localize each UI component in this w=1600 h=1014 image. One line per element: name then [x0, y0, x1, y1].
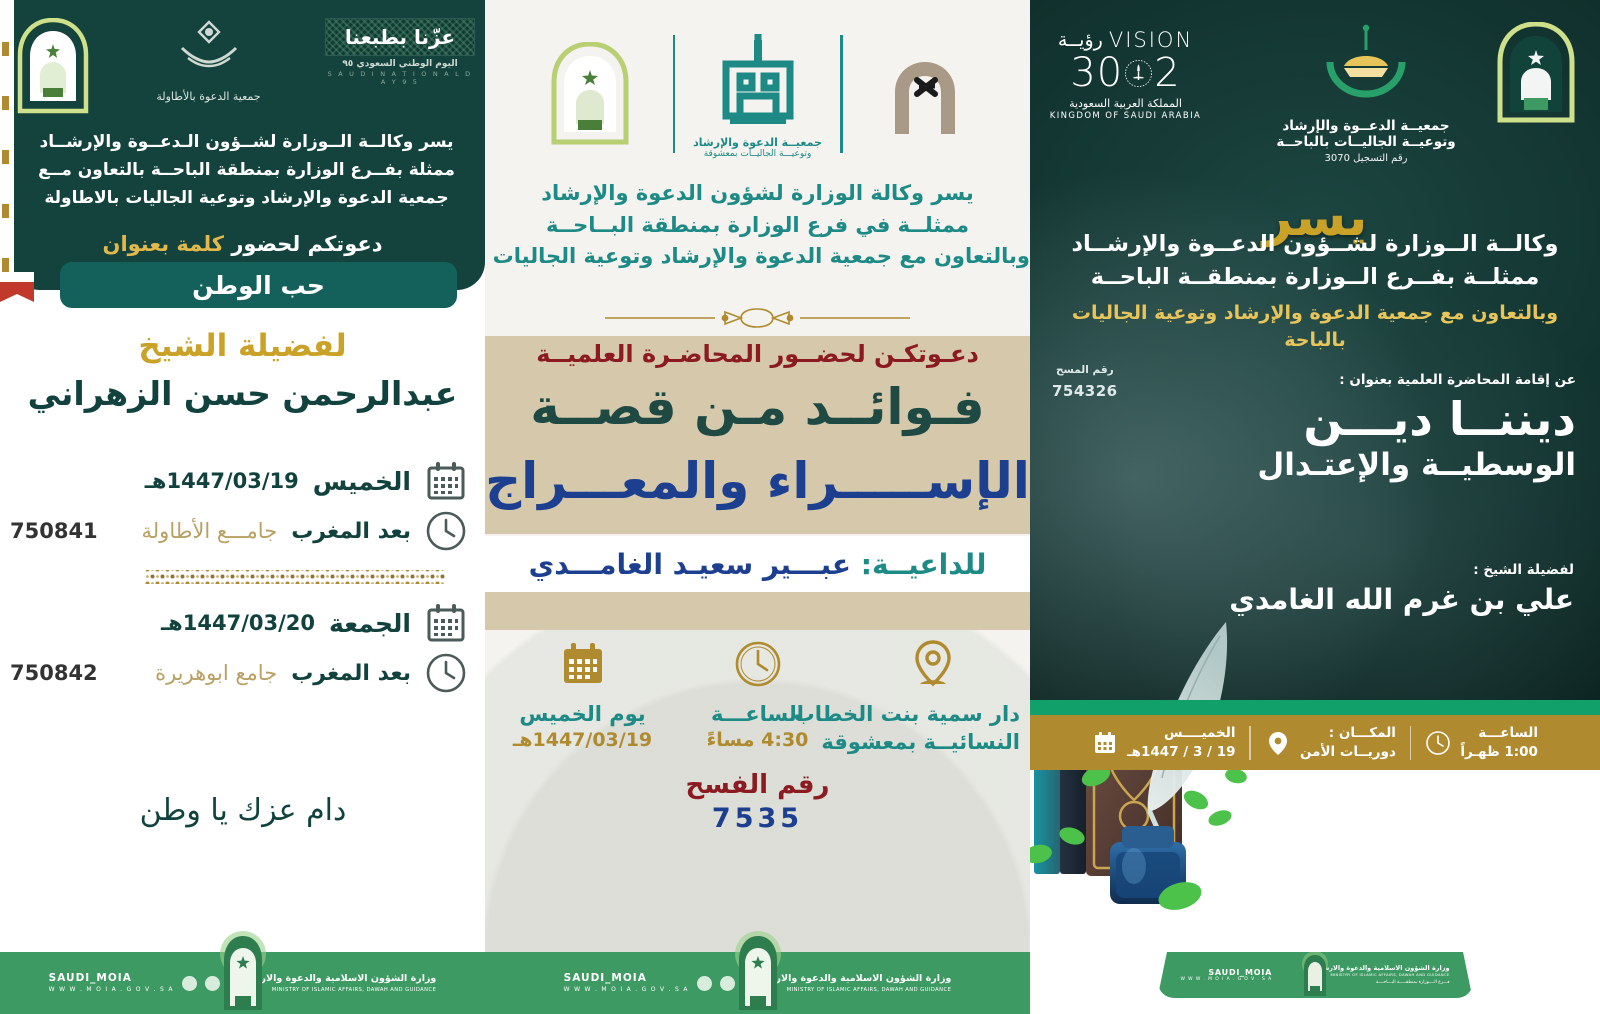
- poster1-place-item: المكـــان : دوريــات الأمن: [1251, 724, 1410, 760]
- dawah-association-mashuqa-logo: جمعيــة الدعوة والإرشاد وتوعيـــة الجالي…: [675, 30, 840, 159]
- footer-ministry-en: MINISTRY OF ISLAMIC AFFAIRS, DAWAH AND G…: [243, 987, 437, 994]
- poster2-speaker-row: للداعيــة: عبـــير سعيـد الغامـــدي: [485, 536, 1030, 592]
- poster1-place-value: دوريــات الأمن: [1300, 743, 1396, 761]
- qaf-logo: [843, 46, 1008, 142]
- footer-social-block[interactable]: SAUDI_MOIA W W W . M O I A . G O V . S A: [548, 972, 758, 994]
- poster2-permit-number: 7535: [485, 803, 1030, 834]
- poster3-invite-line: دعوتكم لحضور كلمة بعنوان: [0, 232, 485, 256]
- twitter-icon[interactable]: [182, 976, 197, 991]
- vision-word-en: VISION: [1109, 28, 1193, 52]
- clock-icon: [425, 652, 467, 694]
- poster1-subtitle-line1: وكالــة الــوزارة لشــؤون الدعــوة والإر…: [1064, 228, 1566, 261]
- reg-label: رقم المسح: [1056, 364, 1114, 376]
- location-pin-icon: [908, 640, 958, 692]
- vision-word-ar: رؤيــة: [1058, 29, 1103, 51]
- vision-2030-logo: VISION رؤيــة 2: [1048, 28, 1203, 121]
- poster2-head-line2: ممثلــة في فرع الوزارة بمنطقة البــاحــة: [485, 210, 1030, 242]
- poster2-head-line3: وبالتعاون مع جمعية الدعوة والإرشاد وتوعي…: [485, 241, 1030, 273]
- clock-icon: [425, 510, 467, 552]
- saudi-palm-swords-icon: [1124, 59, 1153, 88]
- assoc2-line2: وتوعيـــة الجاليــات بمعشوقة: [693, 149, 822, 159]
- schedule-permit-number-2: 750842: [10, 661, 98, 685]
- poster2-date-line2: 1447/03/19هـ: [495, 728, 670, 754]
- moia-logo-2: [508, 42, 673, 146]
- vision-kingdom-en: KINGDOM OF SAUDI ARABIA: [1048, 111, 1203, 121]
- poster1-logo-row: VISION رؤيــة 2: [1030, 0, 1600, 170]
- poster1-place-label: المكـــان :: [1300, 724, 1396, 742]
- poster1-footer-area: وزارة الشؤون الاسلامية والدعوة والارشاد …: [1030, 952, 1600, 998]
- moia-dome-icon: [1299, 950, 1331, 998]
- poster1-green-divider: [1030, 700, 1600, 715]
- assoc-line-2: وتوعيــة الجاليــات بالباحــة: [1266, 134, 1466, 150]
- calendar-icon: [425, 460, 467, 502]
- poster2-footer: وزارة الشؤون الاسلامية والدعوة والارشاد …: [485, 952, 1030, 1014]
- footer-ministry-en: MINISTRY OF ISLAMIC AFFAIRS, DAWAH AND G…: [1317, 973, 1449, 978]
- poster3-head-line3: جمعية الدعوة والإرشاد وتوعية الجاليات با…: [26, 184, 467, 212]
- footer-ministry-block: وزارة الشؤون الاسلامية والدعوة والارشاد …: [758, 973, 968, 993]
- poster3-topic-chip: حب الوطن: [60, 262, 457, 308]
- poster1-footer-plate: وزارة الشؤون الاسلامية والدعوة والارشاد …: [1158, 952, 1473, 998]
- ornament-divider: [145, 566, 445, 588]
- twitter-icon[interactable]: [697, 976, 712, 991]
- footer-website: W W W . M O I A . G O V . S A: [49, 986, 174, 994]
- poster-lecture-deenuna-deen: VISION رؤيــة 2: [1030, 0, 1600, 1014]
- poster1-subtitle: وكالــة الــوزارة لشــؤون الدعــوة والإر…: [1030, 228, 1600, 293]
- poster1-for-label: لفضيلة الشيخ :: [1473, 562, 1574, 578]
- clock-icon: [1425, 730, 1451, 756]
- schedule-row-date: الخميس 1447/03/19هـ: [0, 460, 485, 502]
- footer-ministry-block: وزارة الشؤون الاسلامية والدعوة والارشاد …: [243, 973, 453, 993]
- dawah-association-atawla-logo: جمعية الدعوة بالأطاولة: [134, 18, 284, 103]
- location-pin-icon: [1265, 730, 1291, 756]
- moia-arch-emblem-icon: [1494, 22, 1578, 124]
- poster-lecture-hub-alwatan: عزّنا بطبعنا اليوم الوطني السعودي ٩٥ S A…: [0, 0, 485, 1014]
- dam-izzuk-ya-watan-calligraphy-icon: دام عزك يا وطن: [138, 770, 348, 844]
- national-day-en: S A U D I N A T I O N A L D A Y 9 5: [325, 70, 475, 86]
- schedule-place-2: جامع ابوهريرة: [155, 661, 277, 685]
- poster3-sheikh-name: عبدالرحمن حسن الزهراني: [0, 374, 485, 413]
- association-mark-icon: [1316, 22, 1416, 110]
- poster2-place-col: دار سمية بنت الخطاب النسائيــة بمعشوقة: [845, 640, 1020, 757]
- calendar-icon: [1092, 730, 1118, 756]
- calligraphy-text: دام عزك يا وطن: [139, 793, 346, 828]
- poster3-footer: وزارة الشؤون الاسلامية والدعوة والارشاد …: [0, 952, 485, 1014]
- assoc-registration: رقم التسجيل 3070: [1266, 153, 1466, 164]
- footer-ministry-en: MINISTRY OF ISLAMIC AFFAIRS, DAWAH AND G…: [758, 987, 952, 994]
- poster1-time-item: الساعـــة 1:00 ظهـراً: [1411, 724, 1552, 760]
- footer-ministry-ar: وزارة الشؤون الاسلامية والدعوة والارشاد: [1317, 965, 1449, 973]
- poster2-permit-block: رقم الفسح 7535: [485, 770, 1030, 834]
- poster2-time-value: 4:30 مساءً: [670, 728, 845, 754]
- poster2-place-line2: النسائيــة بمعشوقة: [845, 728, 1020, 756]
- poster1-cooperation: وبالتعاون مع جمعية الدعوة والإرشاد وتوعي…: [1030, 300, 1600, 353]
- poster3-header-text: يسر وكالــة الــوزارة لشــؤون الـدعــوة …: [26, 128, 467, 212]
- poster2-info-row: دار سمية بنت الخطاب النسائيــة بمعشوقة ا…: [485, 640, 1030, 757]
- schedule-row-date-2: الجمعة 1447/03/20هـ: [0, 602, 485, 644]
- poster3-for-label: لفضيلة الشيخ: [0, 328, 485, 364]
- poster2-permit-label: رقم الفسح: [485, 770, 1030, 800]
- schedule-row-time-place-2: بعد المغرب جامع ابوهريرة 750842: [0, 652, 485, 694]
- poster2-time-label: الساعـــة: [670, 700, 845, 728]
- schedule-permit-number: 750841: [10, 519, 98, 543]
- schedule-when-2: بعد المغرب: [291, 661, 411, 686]
- clock-icon: [733, 640, 783, 692]
- poster2-speaker-name: عبـــير سعيـد الغامـــدي: [529, 548, 851, 581]
- schedule-when: بعد المغرب: [291, 519, 411, 544]
- footer-handle: SAUDI_MOIA: [564, 972, 689, 985]
- kufic-mosque-mark-icon: [706, 30, 810, 134]
- footer-website: W W W . M O I A . G O V . S A: [564, 986, 689, 994]
- poster1-subtitle-line2: ممثلــة بفــرع الــوزارة بمنطقــة الباحـ…: [1064, 261, 1566, 294]
- moia-arch-emblem-icon: [14, 18, 92, 114]
- poster2-title-line2: الإســـــراء والمعـــراج: [485, 452, 1030, 510]
- poster1-date-day: الخميــــس: [1127, 724, 1235, 742]
- schedule-day: الخميس: [313, 467, 411, 496]
- poster2-time-col: الساعـــة 4:30 مساءً: [670, 640, 845, 754]
- assoc3-caption: جمعية الدعوة بالأطاولة: [134, 90, 284, 103]
- poster2-logo-row: جمعيــة الدعوة والإرشاد وتوعيـــة الجالي…: [485, 14, 1030, 174]
- poster3-invite-strong: دعوتكم لحضور: [231, 232, 382, 256]
- poster2-head-line1: يسر وكالة الوزارة لشؤون الدعوة والإرشاد: [485, 178, 1030, 210]
- poster3-invite-rest: كلمة بعنوان: [103, 232, 225, 256]
- moia-dome-icon: [731, 930, 785, 1012]
- poster1-title-line1: ديننــا ديـــن: [1230, 392, 1576, 446]
- schedule-row-time-place: بعد المغرب جامـــع الأطاولة 750841: [0, 510, 485, 552]
- assoc-line-1: جمعيــة الدعــوة والإرشاد: [1266, 118, 1466, 134]
- poster3-calligraphy-slogan: دام عزك يا وطن: [0, 770, 485, 848]
- footer-social-block[interactable]: SAUDI_MOIA W W W . M O I A . G O V . S A: [33, 972, 243, 994]
- posters-stage: VISION رؤيــة 2: [0, 0, 1600, 1014]
- assoc-caption-block: جمعيــة الدعوة والإرشاد وتوعيـــة الجالي…: [693, 136, 822, 159]
- poster1-time-label: الساعـــة: [1460, 724, 1538, 742]
- poster3-head-line1: يسر وكالــة الــوزارة لشــؤون الـدعــوة …: [26, 128, 467, 156]
- national-day-slogan: عزّنا بطبعنا: [345, 25, 455, 49]
- poster3-head-line2: ممثلة بفــرع الوزارة بمنطقة الباحــة بال…: [26, 156, 467, 184]
- poster2-place-line1: دار سمية بنت الخطاب: [845, 700, 1020, 728]
- assoc2-line1: جمعيــة الدعوة والإرشاد: [693, 136, 822, 149]
- footer-handle: SAUDI_MOIA: [1180, 968, 1272, 977]
- footer-handle: SAUDI_MOIA: [49, 972, 174, 985]
- calendar-icon: [558, 640, 608, 692]
- poster2-invite-text: دعـوتكـن لحضــور المحاضـرة العلميــة: [485, 340, 1030, 368]
- ornament-divider: [485, 305, 1030, 331]
- schedule-date-2: 1447/03/20هـ: [161, 611, 315, 635]
- dawah-association-logo: جمعيــة الدعــوة والإرشاد وتوعيــة الجال…: [1266, 22, 1466, 164]
- poster3-logo-row: عزّنا بطبعنا اليوم الوطني السعودي ٩٥ S A…: [14, 18, 475, 128]
- poster-lecture-isra-miraj: جمعيــة الدعوة والإرشاد وتوعيـــة الجالي…: [485, 0, 1030, 1014]
- footer-social-block[interactable]: SAUDI_MOIA W W W . M O I A . G O V . S A: [1168, 968, 1317, 982]
- moia-arch-emblem-icon: [547, 42, 633, 146]
- schedule-date: 1447/03/19هـ: [145, 469, 299, 493]
- schedule-place: جامـــع الأطاولة: [142, 519, 278, 543]
- poster2-header-text: يسر وكالة الوزارة لشؤون الدعوة والإرشاد …: [485, 178, 1030, 273]
- poster1-title-line2: الوسطيــة والإعتـدال: [1230, 446, 1576, 485]
- footer-website: W W W . M O I A . G O V . S A: [1180, 977, 1272, 982]
- moia-dome-icon: [216, 930, 270, 1012]
- footer-ministry-ar: وزارة الشؤون الاسلامية والدعوة والارشاد: [758, 973, 952, 985]
- reg-number: 754326: [1052, 379, 1118, 403]
- poster1-time-value: 1:00 ظهـراً: [1460, 743, 1538, 761]
- poster2-date-line1: يوم الخميس: [495, 700, 670, 728]
- logo-divider-1: [840, 35, 843, 153]
- twitter-icon[interactable]: [1277, 970, 1287, 980]
- footer-branch: فـــرع الــــوزارة بمنطقـــــة البـــاحـ…: [1317, 980, 1449, 985]
- vision-kingdom-ar: المملكة العربية السعودية: [1048, 97, 1203, 110]
- poster1-date-item: الخميــــس 19 / 3 / 1447هـ: [1078, 724, 1249, 760]
- poster2-lower-band: [485, 592, 1030, 630]
- poster1-sheikh-name: علي بن غرم الله الغامدي: [1210, 582, 1574, 618]
- poster2-date-col: يوم الخميس 1447/03/19هـ: [495, 640, 670, 754]
- bar-divider: [1410, 726, 1412, 760]
- poster2-title-line1: فـوائــد مـن قصــة: [485, 378, 1030, 436]
- qaf-logo-icon: [875, 46, 975, 142]
- saudi-national-day-badge: عزّنا بطبعنا اليوم الوطني السعودي ٩٥ S A…: [325, 18, 475, 86]
- poster3-schedule: الخميس 1447/03/19هـ بعد المغرب جامـــع ا…: [0, 460, 485, 702]
- poster1-registration-block: رقم المسح 754326: [1052, 362, 1118, 403]
- poster2-speaker-label: للداعيــة:: [861, 548, 987, 581]
- poster1-lecture-title: ديننــا ديـــن الوسطيــة والإعتـدال: [1230, 392, 1576, 485]
- bar-divider-2: [1249, 726, 1251, 760]
- poster1-details-bar: الساعـــة 1:00 ظهـراً المكـــان : دوريــ…: [1030, 715, 1600, 770]
- schedule-day-2: الجمعة: [329, 609, 411, 638]
- footer-ministry-ar: وزارة الشؤون الاسلامية والدعوة والارشاد: [243, 973, 437, 985]
- poster1-date-hijri: 19 / 3 / 1447هـ: [1127, 743, 1235, 761]
- poster1-about-label: عن إقامة المحاضرة العلمية بعنوان :: [1339, 372, 1576, 388]
- footer-ministry-block: وزارة الشؤون الاسلامية والدعوة والارشاد …: [1317, 965, 1461, 986]
- association-mark-icon: [174, 18, 244, 84]
- saudi-flag-ribbon-icon: [0, 272, 34, 316]
- calendar-icon: [425, 602, 467, 644]
- logo-divider-2: [673, 35, 676, 153]
- national-day-ar: اليوم الوطني السعودي ٩٥: [325, 59, 475, 69]
